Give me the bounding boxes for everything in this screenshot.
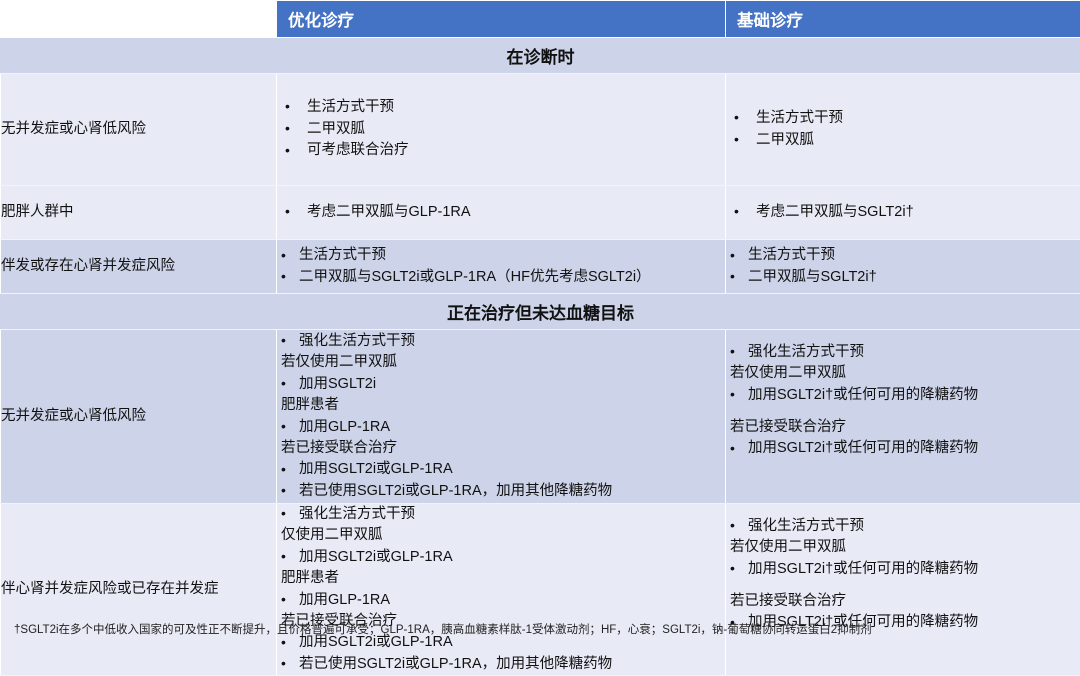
list-item: 若仅使用二甲双胍: [277, 352, 725, 373]
list-item: 加用GLP-1RA: [277, 417, 725, 438]
header-cell-blank: [1, 1, 277, 38]
list-item: 二甲双胍与SGLT2i†: [726, 267, 1080, 288]
list-item: 生活方式干预: [277, 97, 725, 119]
row-label-no-complication-low-risk: 无并发症或心肾低风险: [1, 330, 277, 504]
list-item: 若已使用SGLT2i或GLP-1RA，加用其他降糖药物: [277, 481, 725, 502]
header-cell-optimized-care: 优化诊疗: [277, 1, 726, 38]
list-item: 加用SGLT2i†或任何可用的降糖药物: [726, 385, 1080, 406]
list-item: 强化生活方式干预: [726, 342, 1080, 363]
list-item: 肥胖患者: [277, 395, 725, 416]
list-item: 生活方式干预: [726, 108, 1080, 130]
list-item: 生活方式干预: [277, 245, 725, 266]
row-cell-optimized: 生活方式干预 二甲双胍与SGLT2i或GLP-1RA（HF优先考虑SGLT2i）: [277, 240, 726, 294]
list-item: 仅使用二甲双胍: [277, 525, 725, 546]
table-row: 无并发症或心肾低风险 强化生活方式干预 若仅使用二甲双胍 加用SGLT2i 肥胖…: [1, 330, 1080, 504]
section-band-title: 在诊断时: [1, 38, 1080, 74]
row-cell-basic: 生活方式干预 二甲双胍与SGLT2i†: [726, 240, 1080, 294]
bullet-list: 考虑二甲双胍与GLP-1RA: [277, 202, 725, 224]
list-item: 加用SGLT2i: [277, 374, 725, 395]
list-item: 生活方式干预: [726, 245, 1080, 266]
header-cell-basic-care: 基础诊疗: [726, 1, 1080, 38]
table-row: 肥胖人群中 考虑二甲双胍与GLP-1RA 考虑二甲双胍与SGLT2i†: [1, 186, 1080, 240]
bullet-list: 强化生活方式干预 若仅使用二甲双胍 加用SGLT2i 肥胖患者 加用GLP-1R…: [277, 331, 725, 502]
list-item: 强化生活方式干预: [726, 516, 1080, 537]
bullet-list: 生活方式干预 二甲双胍 可考虑联合治疗: [277, 97, 725, 162]
list-item-spacer: [726, 406, 1080, 417]
bullet-list: 强化生活方式干预 若仅使用二甲双胍 加用SGLT2i†或任何可用的降糖药物 若已…: [726, 342, 1080, 460]
bullet-list: 生活方式干预 二甲双胍与SGLT2i†: [726, 245, 1080, 288]
bullet-list: 生活方式干预 二甲双胍与SGLT2i或GLP-1RA（HF优先考虑SGLT2i）: [277, 245, 725, 288]
list-item: 加用SGLT2i或GLP-1RA: [277, 459, 725, 480]
list-item: 若已接受联合治疗: [726, 417, 1080, 438]
table-footnote: †SGLT2i在多个中低收入国家的可及性正不断提升，且价格普遍可承受；GLP-1…: [0, 622, 1080, 638]
list-item: 若已接受联合治疗: [726, 591, 1080, 612]
list-item: 加用GLP-1RA: [277, 590, 725, 611]
row-cell-optimized: 考虑二甲双胍与GLP-1RA: [277, 186, 726, 240]
list-item: 加用SGLT2i或GLP-1RA: [277, 547, 725, 568]
treatment-guideline-table: 优化诊疗 基础诊疗 在诊断时 无并发症或心肾低风险 生活方式干预 二甲双胍 可考…: [0, 0, 1080, 676]
row-cell-optimized: 生活方式干预 二甲双胍 可考虑联合治疗: [277, 74, 726, 186]
list-item: 可考虑联合治疗: [277, 140, 725, 162]
section-band-title: 正在治疗但未达血糖目标: [1, 294, 1080, 330]
section-band-on-treatment-not-at-target: 正在治疗但未达血糖目标: [1, 294, 1080, 330]
list-item: 二甲双胍与SGLT2i或GLP-1RA（HF优先考虑SGLT2i）: [277, 267, 725, 288]
row-label-obesity: 肥胖人群中: [1, 186, 277, 240]
list-item: 加用SGLT2i†或任何可用的降糖药物: [726, 559, 1080, 580]
table-body: 优化诊疗 基础诊疗 在诊断时 无并发症或心肾低风险 生活方式干预 二甲双胍 可考…: [1, 1, 1080, 676]
list-item: 若已使用SGLT2i或GLP-1RA，加用其他降糖药物: [277, 654, 725, 675]
list-item: 若已接受联合治疗: [277, 438, 725, 459]
list-item: 强化生活方式干预: [277, 504, 725, 525]
row-label-cardiorenal-risk: 伴发或存在心肾并发症风险: [1, 240, 277, 294]
list-item: 若仅使用二甲双胍: [726, 363, 1080, 384]
treatment-guideline-table-slide: 优化诊疗 基础诊疗 在诊断时 无并发症或心肾低风险 生活方式干预 二甲双胍 可考…: [0, 0, 1080, 650]
row-cell-optimized: 强化生活方式干预 若仅使用二甲双胍 加用SGLT2i 肥胖患者 加用GLP-1R…: [277, 330, 726, 504]
table-header-row: 优化诊疗 基础诊疗: [1, 1, 1080, 38]
list-item: 强化生活方式干预: [277, 331, 725, 352]
bullet-list: 强化生活方式干预 仅使用二甲双胍 加用SGLT2i或GLP-1RA 肥胖患者 加…: [277, 504, 725, 675]
list-item: 考虑二甲双胍与SGLT2i†: [726, 202, 1080, 224]
bullet-list: 考虑二甲双胍与SGLT2i†: [726, 202, 1080, 224]
row-cell-basic: 强化生活方式干预 若仅使用二甲双胍 加用SGLT2i†或任何可用的降糖药物 若已…: [726, 330, 1080, 504]
list-item: 二甲双胍: [726, 130, 1080, 152]
table-row: 无并发症或心肾低风险 生活方式干预 二甲双胍 可考虑联合治疗 生活方式干预 二甲…: [1, 74, 1080, 186]
list-item: 考虑二甲双胍与GLP-1RA: [277, 202, 725, 224]
bullet-list: 强化生活方式干预 若仅使用二甲双胍 加用SGLT2i†或任何可用的降糖药物 若已…: [726, 516, 1080, 634]
row-cell-basic: 生活方式干预 二甲双胍: [726, 74, 1080, 186]
list-item: 若仅使用二甲双胍: [726, 537, 1080, 558]
row-cell-basic: 考虑二甲双胍与SGLT2i†: [726, 186, 1080, 240]
section-band-at-diagnosis: 在诊断时: [1, 38, 1080, 74]
list-item: 加用SGLT2i†或任何可用的降糖药物: [726, 438, 1080, 459]
list-item-spacer: [726, 580, 1080, 591]
bullet-list: 生活方式干预 二甲双胍: [726, 108, 1080, 152]
list-item: 二甲双胍: [277, 119, 725, 141]
table-row: 伴发或存在心肾并发症风险 生活方式干预 二甲双胍与SGLT2i或GLP-1RA（…: [1, 240, 1080, 294]
list-item: 肥胖患者: [277, 568, 725, 589]
row-label-no-complication-low-risk: 无并发症或心肾低风险: [1, 74, 277, 186]
